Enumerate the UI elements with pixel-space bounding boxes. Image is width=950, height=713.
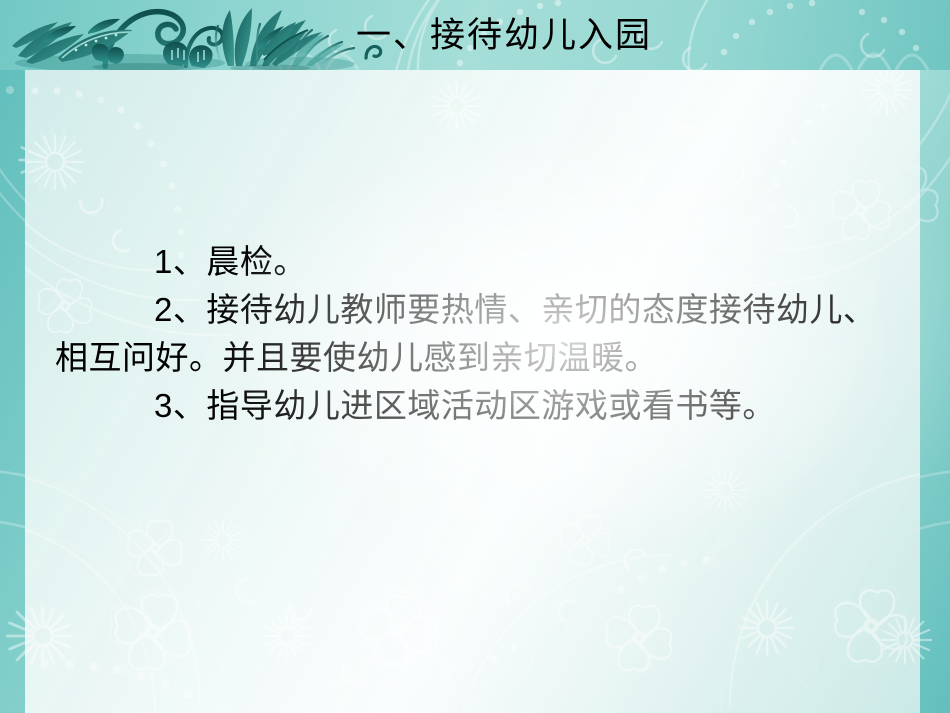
body-paragraph-3: 3、指导幼儿进区域活动区游戏或看书等。: [55, 382, 895, 430]
content-panel: 1、晨检。 2、接待幼儿教师要热情、亲切的态度接待幼儿、相互问好。并且要使幼儿感…: [25, 70, 920, 713]
body-paragraph-2: 2、接待幼儿教师要热情、亲切的态度接待幼儿、相互问好。并且要使幼儿感到亲切温暖。: [55, 286, 895, 382]
slide-root: 1、晨检。 2、接待幼儿教师要热情、亲切的态度接待幼儿、相互问好。并且要使幼儿感…: [0, 0, 950, 713]
body-paragraph-1: 1、晨检。: [55, 238, 895, 286]
slide-title: 一、接待幼儿入园: [0, 0, 950, 70]
slide-header: 一、接待幼儿入园: [0, 0, 950, 70]
slide-body-text: 1、晨检。 2、接待幼儿教师要热情、亲切的态度接待幼儿、相互问好。并且要使幼儿感…: [55, 238, 895, 430]
panel-mandala-ornament: [25, 70, 920, 713]
